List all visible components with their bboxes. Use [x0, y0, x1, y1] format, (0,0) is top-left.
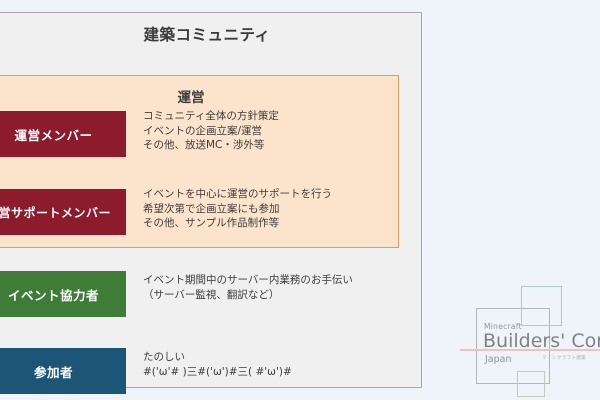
role-chip-management-member[interactable]: 運営メンバー [0, 111, 126, 157]
logo-square-top [521, 286, 562, 326]
watermark-logo: Minecraft Builders' Commu Japan マインクラフト建… [464, 278, 600, 396]
role-chip-management-support-member[interactable]: 運営サポートメンバー [0, 189, 126, 235]
slide-panel: 建築コミュニティ 運営 運営メンバー コミュニティ全体の方針策定 イベントの企画… [0, 12, 422, 388]
logo-text-japanese-sub: マインクラフト建築 [542, 355, 586, 361]
role-chip-event-helper[interactable]: イベント協力者 [0, 271, 126, 317]
logo-square-bottom [517, 371, 545, 397]
role-description-management-member: コミュニティ全体の方針策定 イベントの企画立案/運営 その他、放送MC・渉外等 [143, 109, 405, 153]
role-description-participant: たのしい #('ω'# )三#('ω')#三( #'ω')# [143, 350, 405, 379]
role-row: 運営メンバー コミュニティ全体の方針策定 イベントの企画立案/運営 その他、放送… [0, 111, 423, 159]
role-row: 運営サポートメンバー イベントを中心に運営のサポートを行う 希望次第で企画立案に… [0, 189, 423, 237]
logo-text-japan: Japan [485, 354, 512, 365]
logo-text-builders-community: Builders' Commu [483, 330, 600, 352]
page-title: 建築コミュニティ [0, 23, 421, 45]
role-row: 参加者 たのしい #('ω'# )三#('ω')#三( #'ω')# [0, 348, 423, 396]
management-group-title: 運営 [0, 86, 398, 106]
role-description-management-support-member: イベントを中心に運営のサポートを行う 希望次第で企画立案にも参加 その他、サンプ… [143, 187, 405, 231]
role-row: イベント協力者 イベント期間中のサーバー内業務のお手伝い （サーバー監視、翻訳な… [0, 271, 423, 319]
role-description-event-helper: イベント期間中のサーバー内業務のお手伝い （サーバー監視、翻訳など） [143, 273, 405, 302]
role-chip-participant[interactable]: 参加者 [0, 348, 126, 394]
